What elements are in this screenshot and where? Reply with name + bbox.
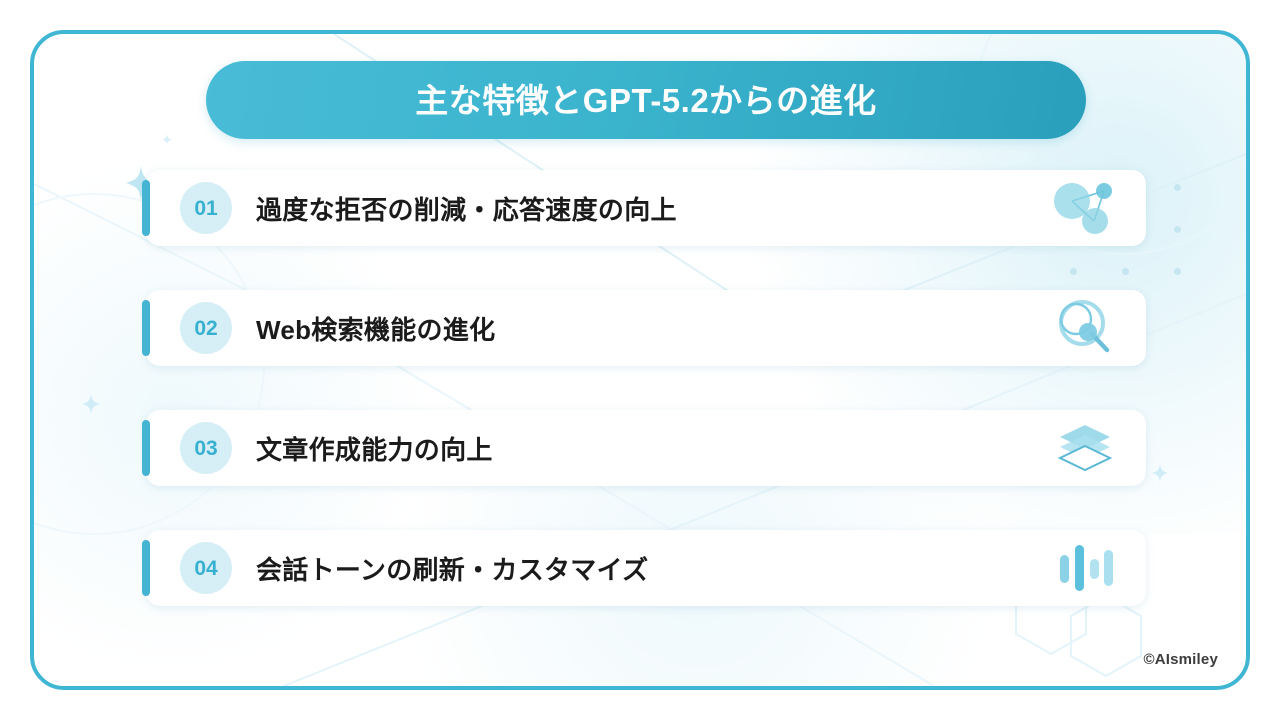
feature-label: 会話トーンの刷新・カスタマイズ: [256, 550, 648, 587]
feature-number: 01: [194, 198, 217, 219]
slide-title-pill: 主な特徴とGPT-5.2からの進化: [206, 61, 1086, 139]
audio-waveform-icon: [1050, 538, 1120, 598]
network-nodes-icon: [1050, 178, 1120, 238]
accent-bar: [142, 540, 150, 596]
feature-card-03[interactable]: 03 文章作成能力の向上: [146, 410, 1146, 486]
stacked-layers-icon: [1050, 418, 1120, 478]
sparkle-tiny-icon: [1152, 464, 1168, 482]
page-title: 主な特徴とGPT-5.2からの進化: [415, 84, 876, 117]
magnifier-search-icon: [1050, 298, 1120, 358]
feature-card-01[interactable]: 01 過度な拒否の削減・応答速度の向上: [146, 170, 1146, 246]
feature-label: Web検索機能の進化: [256, 310, 495, 347]
sparkle-small-icon: [82, 394, 100, 414]
slide-frame: 主な特徴とGPT-5.2からの進化 01 過度な拒否の削減・応答速度の向上: [30, 30, 1250, 690]
sparkle-micro-icon: [162, 134, 172, 145]
copyright-credit: ©AIsmiley: [1143, 651, 1218, 668]
accent-bar: [142, 420, 150, 476]
feature-number-badge: 04: [180, 542, 232, 594]
accent-bar: [142, 300, 150, 356]
feature-number-badge: 03: [180, 422, 232, 474]
feature-number: 02: [194, 318, 217, 339]
feature-list: 01 過度な拒否の削減・応答速度の向上: [146, 170, 1146, 606]
feature-number: 04: [194, 558, 217, 579]
feature-card-02[interactable]: 02 Web検索機能の進化: [146, 290, 1146, 366]
feature-number: 03: [194, 438, 217, 459]
feature-card-04[interactable]: 04 会話トーンの刷新・カスタマイズ: [146, 530, 1146, 606]
feature-label: 文章作成能力の向上: [256, 430, 493, 467]
feature-label: 過度な拒否の削減・応答速度の向上: [256, 190, 677, 227]
slide-root: 主な特徴とGPT-5.2からの進化 01 過度な拒否の削減・応答速度の向上: [0, 0, 1280, 720]
accent-bar: [142, 180, 150, 236]
feature-number-badge: 01: [180, 182, 232, 234]
feature-number-badge: 02: [180, 302, 232, 354]
